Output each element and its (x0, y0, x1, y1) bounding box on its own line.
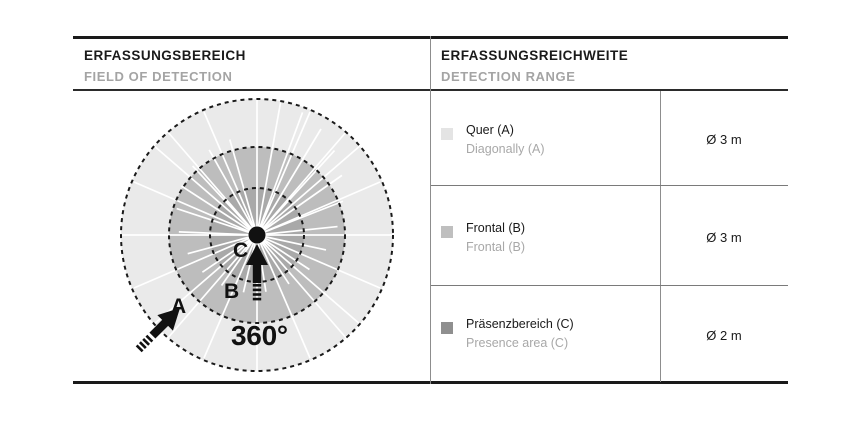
table-row-divider-2 (431, 285, 788, 286)
row-label-en: Frontal (B) (466, 241, 525, 254)
zone-c-label: C (233, 240, 248, 261)
row-label-de: Frontal (B) (466, 222, 525, 235)
header-title-de: ERFASSUNGSBEREICH (84, 49, 246, 63)
header-title-de: ERFASSUNGSREICHWEITE (441, 49, 628, 63)
angle-360-label: 360° (231, 322, 288, 350)
row-label-en: Presence area (C) (466, 337, 574, 350)
header-title-en: FIELD OF DETECTION (84, 70, 246, 83)
row-label-en: Diagonally (A) (466, 143, 545, 156)
zone-a-label: A (171, 296, 186, 317)
sensor-center-dot (249, 227, 266, 244)
row-value: Ø 3 m (660, 132, 788, 147)
spec-sheet: ERFASSUNGSBEREICH FIELD OF DETECTION ERF… (0, 0, 861, 421)
table-row-divider-1 (431, 185, 788, 186)
field-of-detection-header: ERFASSUNGSBEREICH FIELD OF DETECTION (84, 49, 246, 83)
header-title-en: DETECTION RANGE (441, 70, 628, 83)
zone-b-label: B (224, 281, 239, 302)
zone-swatch (441, 226, 453, 238)
row-value: Ø 2 m (660, 328, 788, 343)
detection-range-header: ERFASSUNGSREICHWEITE DETECTION RANGE (441, 49, 628, 83)
row-value: Ø 3 m (660, 230, 788, 245)
row-label-de: Quer (A) (466, 124, 545, 137)
zone-swatch (441, 322, 453, 334)
row-label-de: Präsenzbereich (C) (466, 318, 574, 331)
zone-swatch (441, 128, 453, 140)
panel-divider (430, 36, 431, 384)
